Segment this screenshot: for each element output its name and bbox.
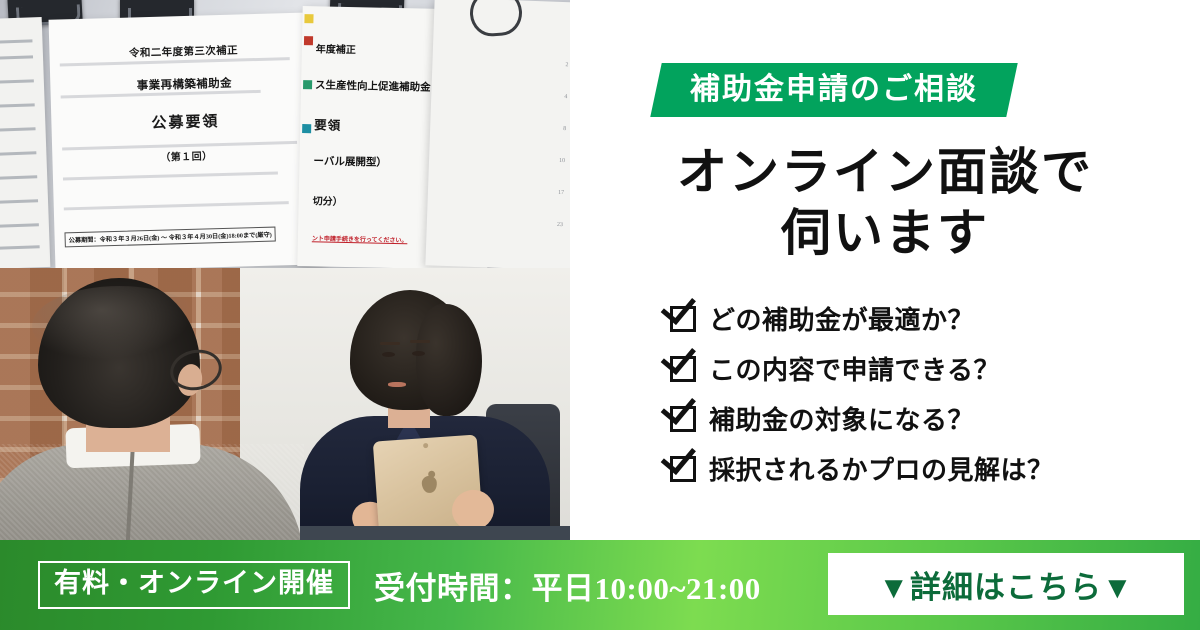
checkbox-checked-icon bbox=[670, 406, 696, 432]
ribbon-badge: 補助金申請のご相談 bbox=[650, 63, 1017, 117]
document-title-line3: 公募要領 bbox=[67, 108, 303, 136]
page-title: オンライン面談で 伺います bbox=[570, 142, 1200, 264]
headline-line-1: オンライン面談で bbox=[570, 142, 1200, 203]
checkbox-checked-icon bbox=[670, 456, 696, 482]
status-badge: 有料・オンライン開催 bbox=[38, 561, 350, 609]
photo-column: 令和二年度第三次補正 事業再構築補助金 公募要領 （第１回） 公募期間：令和３年… bbox=[0, 0, 570, 540]
document-notebook: 24 810 1723 bbox=[425, 0, 570, 268]
ribbon-label: 補助金申請のご相談 bbox=[690, 72, 978, 108]
details-cta-button[interactable]: ▼詳細はこちら▼ bbox=[828, 553, 1184, 615]
woman-hair-side bbox=[416, 304, 482, 416]
checklist-label: この内容で申請できる？ bbox=[709, 350, 1000, 387]
content-panel: 補助金申請のご相談 オンライン面談で 伺います どの補助金が最適か？ この内容で… bbox=[570, 0, 1200, 540]
document-main: 令和二年度第三次補正 事業再構築補助金 公募要領 （第１回） 公募期間：令和３年… bbox=[49, 12, 324, 268]
checklist-label: 採択されるかプロの見解は？ bbox=[709, 450, 1054, 487]
list-item: 補助金の対象になる？ bbox=[670, 400, 1170, 437]
headline-line-2: 伺います bbox=[570, 203, 1200, 264]
woman-mouth bbox=[388, 382, 406, 387]
document-side-strip bbox=[0, 17, 50, 268]
business-hours: 受付時間：平日10:00~21:00 bbox=[374, 563, 761, 608]
apple-logo-icon bbox=[421, 475, 437, 493]
man-head bbox=[38, 278, 200, 428]
checklist-label: 補助金の対象になる？ bbox=[709, 400, 974, 437]
list-item: 採択されるかプロの見解は？ bbox=[670, 450, 1170, 487]
ribbon-wrapper: 補助金申請のご相談 bbox=[656, 63, 1012, 117]
photo-meeting bbox=[0, 268, 570, 540]
list-item: この内容で申請できる？ bbox=[670, 350, 1170, 387]
promo-banner: 令和二年度第三次補正 事業再構築補助金 公募要領 （第１回） 公募期間：令和３年… bbox=[0, 0, 1200, 630]
bottom-bar: 有料・オンライン開催 受付時間：平日10:00~21:00 ▼詳細はこちら▼ bbox=[0, 540, 1200, 630]
document-period-box: 公募期間：令和３年３月26日(金) ～ 令和３年４月30日(金)18:00まで(… bbox=[64, 227, 275, 248]
list-item: どの補助金が最適か？ bbox=[670, 300, 1170, 337]
checklist: どの補助金が最適か？ この内容で申請できる？ 補助金の対象になる？ 採択されるか… bbox=[670, 300, 1170, 500]
checkbox-checked-icon bbox=[670, 306, 696, 332]
meeting-desk bbox=[300, 526, 570, 540]
checkbox-checked-icon bbox=[670, 356, 696, 382]
checklist-label: どの補助金が最適か？ bbox=[709, 300, 974, 337]
camera-icon bbox=[423, 443, 428, 448]
photo-documents: 令和二年度第三次補正 事業再構築補助金 公募要領 （第１回） 公募期間：令和３年… bbox=[0, 0, 570, 268]
details-cta-label: ▼詳細はこちら▼ bbox=[878, 562, 1133, 607]
